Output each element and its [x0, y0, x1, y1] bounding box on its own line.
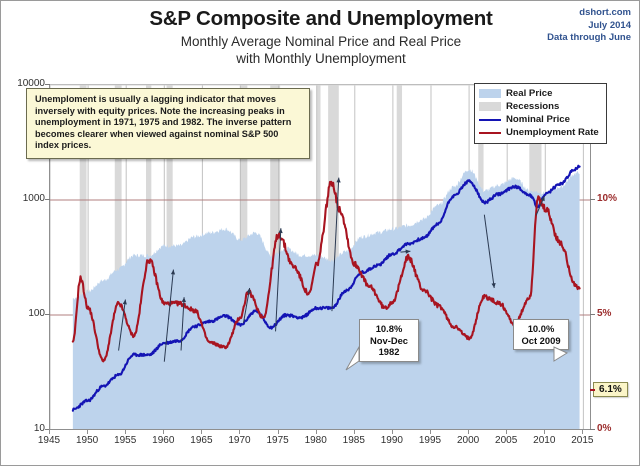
x-axis-tick — [278, 429, 279, 434]
x-axis-tick — [468, 429, 469, 434]
x-axis-tick-label: 2000 — [448, 435, 488, 446]
x-axis-tick — [316, 429, 317, 434]
chart-subtitle-line1: Monthly Average Nominal Price and Real P… — [1, 34, 640, 49]
x-axis-tick-label: 1980 — [296, 435, 336, 446]
y-axis-left-tick-label: 1000 — [1, 193, 45, 204]
x-axis-tick-label: 1945 — [29, 435, 69, 446]
current-unemployment-badge: 6.1% — [593, 382, 628, 397]
x-axis-tick — [582, 429, 583, 434]
callout-1982-year: 1982 — [366, 346, 412, 358]
callout-1982: 10.8% Nov-Dec 1982 — [359, 319, 419, 362]
y-axis-right-tick — [590, 314, 595, 315]
y-axis-right-tick-label: 5% — [597, 308, 611, 319]
x-axis-tick — [125, 429, 126, 434]
x-axis-tick — [87, 429, 88, 434]
y-axis-right-tick-label: 10% — [597, 193, 617, 204]
x-axis-tick — [354, 429, 355, 434]
x-axis-tick-label: 1995 — [410, 435, 450, 446]
legend-label-nominal-price: Nominal Price — [506, 114, 570, 125]
legend-item-recessions: Recessions — [479, 100, 602, 113]
legend-item-real-price: Real Price — [479, 87, 602, 100]
callout-2009: 10.0% Oct 2009 — [513, 319, 569, 350]
x-axis-tick — [163, 429, 164, 434]
callout-1982-value: 10.8% — [366, 323, 412, 335]
chart-subtitle-line2: with Monthly Unemployment — [1, 51, 640, 66]
x-axis-tick — [506, 429, 507, 434]
chart-legend: Real Price Recessions Nominal Price Unem… — [474, 83, 607, 144]
legend-label-recessions: Recessions — [506, 101, 559, 112]
y-axis-right-tick — [590, 199, 595, 200]
y-axis-right-tick-label: 0% — [597, 423, 611, 434]
x-axis-tick — [239, 429, 240, 434]
y-axis-left-tick — [45, 314, 50, 315]
callout-1982-month: Nov-Dec — [366, 335, 412, 347]
x-axis-tick — [430, 429, 431, 434]
y-axis-left-tick — [45, 199, 50, 200]
y-axis-left-tick-label: 100 — [1, 308, 45, 319]
callout-2009-date: Oct 2009 — [520, 335, 562, 347]
legend-label-unemployment-rate: Unemployment Rate — [506, 127, 599, 138]
x-axis-line — [49, 429, 590, 430]
legend-swatch-recessions — [479, 102, 501, 111]
x-axis-tick-label: 2015 — [562, 435, 602, 446]
y-axis-left-tick-label: 10 — [1, 423, 45, 434]
annotation-note-box: Unemploment is usually a lagging indicat… — [26, 88, 310, 159]
legend-label-real-price: Real Price — [506, 88, 552, 99]
x-axis-tick-label: 1975 — [258, 435, 298, 446]
x-axis-tick-label: 1965 — [181, 435, 221, 446]
chart-title: S&P Composite and Unemployment — [1, 7, 640, 31]
x-axis-tick-label: 2010 — [524, 435, 564, 446]
y-axis-left-tick — [45, 84, 50, 85]
y-axis-right-tick — [590, 429, 595, 430]
x-axis-tick-label: 1990 — [372, 435, 412, 446]
credit-date: July 2014 — [547, 20, 631, 33]
legend-item-unemployment-rate: Unemployment Rate — [479, 126, 602, 139]
callout-2009-value: 10.0% — [520, 323, 562, 335]
credit-site: dshort.com — [547, 7, 631, 20]
x-axis-tick — [201, 429, 202, 434]
x-axis-tick-label: 1985 — [334, 435, 374, 446]
credit-data-through: Data through June — [547, 32, 631, 45]
legend-swatch-unemployment-rate — [479, 132, 501, 134]
x-axis-tick — [544, 429, 545, 434]
x-axis-tick-label: 1960 — [143, 435, 183, 446]
credit-block: dshort.com July 2014 Data through June — [547, 7, 631, 45]
legend-swatch-real-price — [479, 89, 501, 98]
x-axis-tick — [49, 429, 50, 434]
legend-swatch-nominal-price — [479, 119, 501, 121]
x-axis-tick-label: 1950 — [67, 435, 107, 446]
x-axis-tick-label: 2005 — [486, 435, 526, 446]
legend-item-nominal-price: Nominal Price — [479, 113, 602, 126]
chart-page: S&P Composite and Unemployment Monthly A… — [0, 0, 640, 466]
x-axis-tick-label: 1970 — [219, 435, 259, 446]
x-axis-tick — [392, 429, 393, 434]
x-axis-tick-label: 1955 — [105, 435, 145, 446]
